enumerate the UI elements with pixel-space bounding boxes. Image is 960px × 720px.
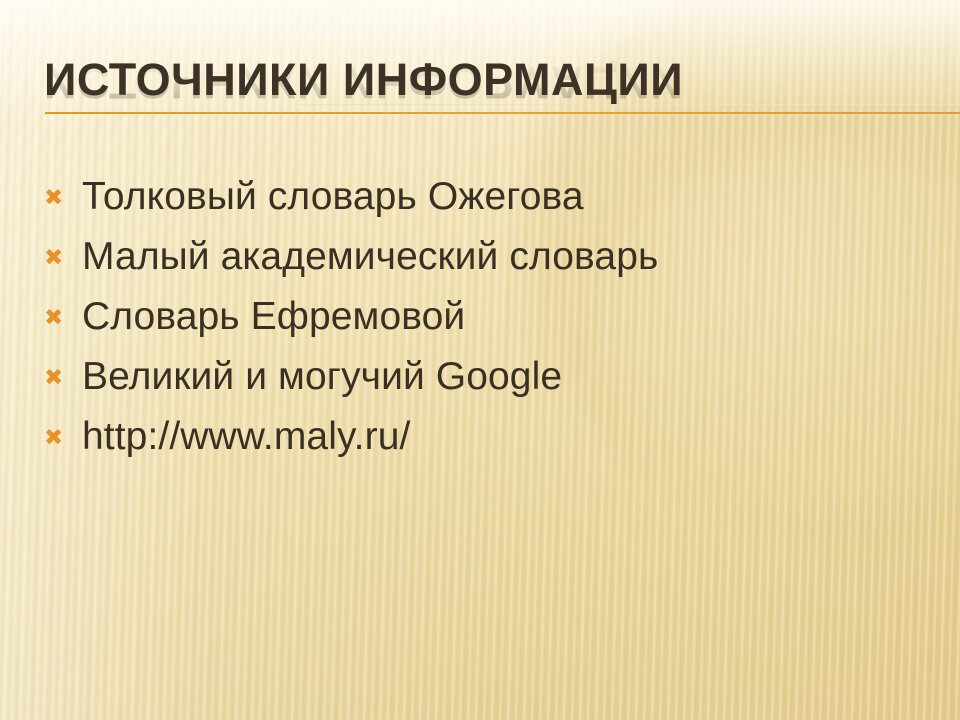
list-item: ✖ Малый академический словарь (40, 232, 920, 292)
cross-bullet-icon: ✖ (40, 232, 82, 282)
cross-bullet-icon: ✖ (40, 172, 82, 222)
title-hairline (300, 104, 960, 105)
slide-title: Источники информации (44, 52, 924, 108)
cross-bullet-icon: ✖ (40, 412, 82, 462)
cross-bullet-icon: ✖ (40, 292, 82, 342)
list-item: ✖ Словарь Ефремовой (40, 292, 920, 352)
list-item: ✖ Великий и могучий Google (40, 352, 920, 412)
list-item-label-url[interactable]: http://www.maly.ru/ (82, 412, 920, 462)
presentation-slide: Источники информации Источники информаци… (0, 0, 960, 720)
list-item-label: Великий и могучий Google (82, 352, 920, 402)
sources-bullet-list: ✖ Толковый словарь Ожегова ✖ Малый акаде… (40, 172, 920, 472)
cross-bullet-icon: ✖ (40, 352, 82, 402)
list-item-label: Малый академический словарь (82, 232, 920, 282)
list-item: ✖ http://www.maly.ru/ (40, 412, 920, 472)
slide-title-block: Источники информации Источники информаци… (44, 52, 924, 162)
list-item-label: Словарь Ефремовой (82, 292, 920, 342)
list-item: ✖ Толковый словарь Ожегова (40, 172, 920, 232)
list-item-label: Толковый словарь Ожегова (82, 172, 920, 222)
title-divider-rule (45, 112, 960, 114)
